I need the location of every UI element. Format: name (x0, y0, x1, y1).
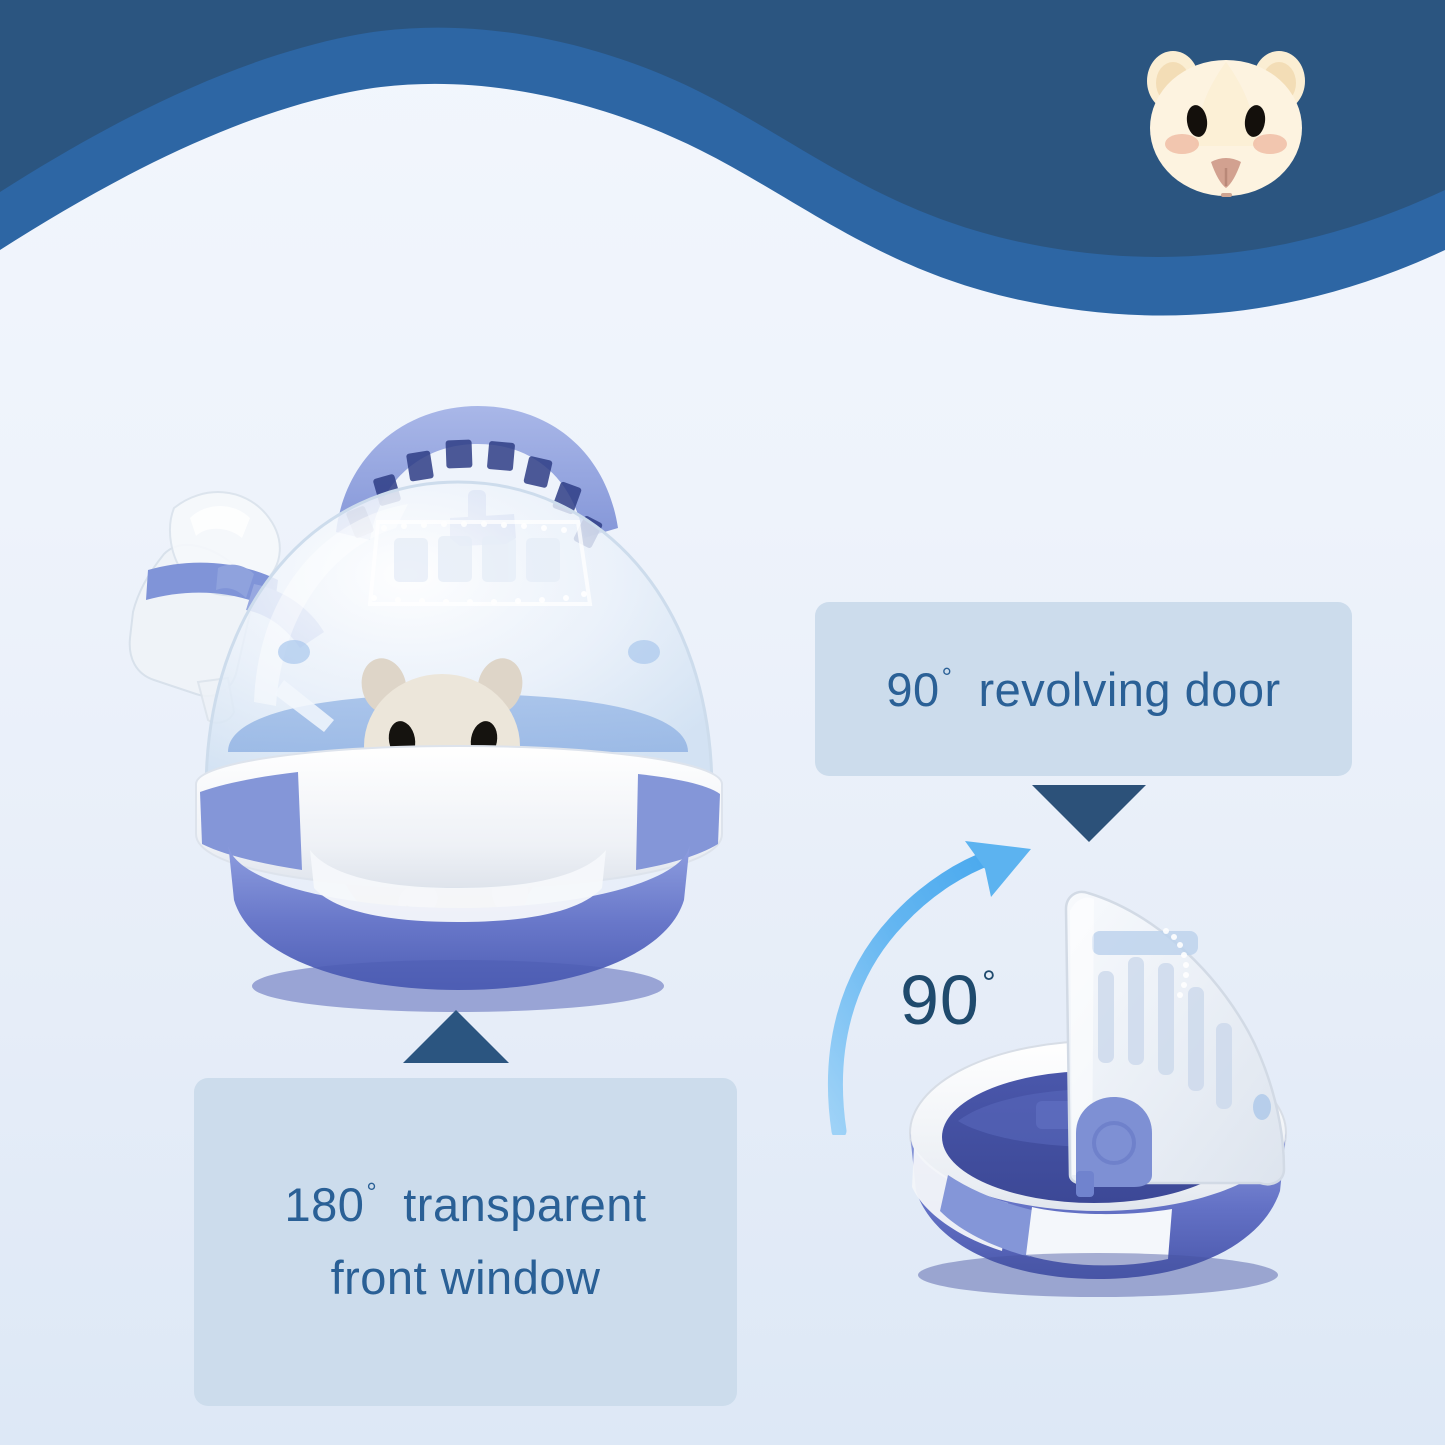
callout-door-value: 90 (886, 663, 939, 716)
hamster-face-logo (1135, 36, 1317, 206)
carrier-rim-and-base (196, 746, 722, 1012)
callout-revolving-door: 90°revolving door (815, 602, 1352, 776)
arrow-up-to-main-photo (403, 1010, 509, 1063)
callout-window-line1: 180°transparent (284, 1169, 646, 1242)
hamster-cheek-right (1253, 134, 1287, 154)
dome-dot-left (278, 640, 310, 664)
callout-door-label: revolving door (978, 663, 1280, 716)
degree-symbol-window: ° (366, 1179, 377, 1207)
dome-dot-right (628, 640, 660, 664)
door-right-dot (1253, 1094, 1271, 1120)
bowl-shadow (918, 1253, 1278, 1297)
degree-symbol-door: ° (942, 664, 953, 692)
hamster-cheek-left (1165, 134, 1199, 154)
hamster-mouth (1221, 193, 1232, 197)
infographic-page: 90°revolving door 180°transparent front … (0, 0, 1445, 1445)
carrier-open-door-photo (880, 875, 1340, 1315)
hinge-tab (1076, 1171, 1094, 1197)
callout-transparent-window: 180°transparent front window (194, 1078, 737, 1406)
callout-window-word: transparent (403, 1178, 646, 1231)
arrow-down-to-door-photo (1032, 785, 1146, 842)
hinge-knob (1076, 1097, 1152, 1197)
callout-window-line2: front window (331, 1242, 601, 1315)
callout-window-value: 180 (284, 1178, 364, 1231)
rim-accent-right (636, 774, 720, 870)
hamster-carrier-with-pet-photo (78, 322, 778, 1022)
base-shadow (252, 960, 664, 1012)
callout-door-text: 90°revolving door (886, 662, 1280, 717)
